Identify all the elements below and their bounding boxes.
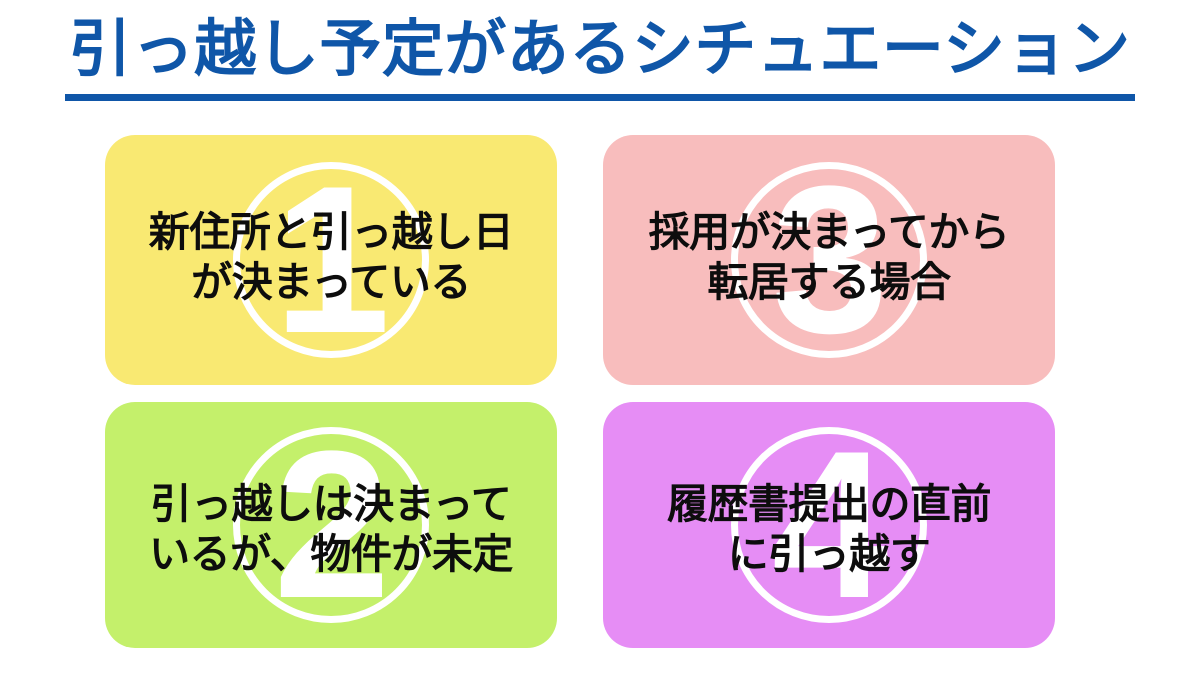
situation-card-4-text: 履歴書提出の直前 に引っ越す: [629, 479, 1029, 579]
card-text-line-1: 新住所と引っ越し日: [131, 207, 531, 257]
situation-card-1[interactable]: 1 新住所と引っ越し日 が決まっている: [105, 135, 557, 385]
slide-canvas: 引っ越し予定があるシチュエーション 1 新住所と引っ越し日 が決まっている 3 …: [0, 0, 1200, 675]
card-text-line-2: が決まっている: [131, 257, 531, 307]
page-title: 引っ越し予定があるシチュエーション: [0, 12, 1200, 101]
card-text-line-1: 採用が決まってから: [629, 207, 1029, 257]
card-text-line-1: 履歴書提出の直前: [629, 479, 1029, 529]
situation-card-3[interactable]: 3 採用が決まってから 転居する場合: [603, 135, 1055, 385]
card-text-line-2: いるが、物件が未定: [131, 529, 531, 579]
situation-card-grid: 1 新住所と引っ越し日 が決まっている 3 採用が決まってから 転居する場合 2: [105, 135, 1055, 648]
situation-card-2-text: 引っ越しは決まって いるが、物件が未定: [131, 479, 531, 579]
situation-card-2[interactable]: 2 引っ越しは決まって いるが、物件が未定: [105, 402, 557, 648]
card-text-line-2: 転居する場合: [629, 257, 1029, 307]
card-text-line-2: に引っ越す: [629, 529, 1029, 579]
situation-card-3-text: 採用が決まってから 転居する場合: [629, 207, 1029, 307]
situation-card-1-text: 新住所と引っ越し日 が決まっている: [131, 207, 531, 307]
situation-card-4[interactable]: 4 履歴書提出の直前 に引っ越す: [603, 402, 1055, 648]
card-text-line-1: 引っ越しは決まって: [131, 479, 531, 529]
page-title-text: 引っ越し予定があるシチュエーション: [65, 12, 1134, 101]
